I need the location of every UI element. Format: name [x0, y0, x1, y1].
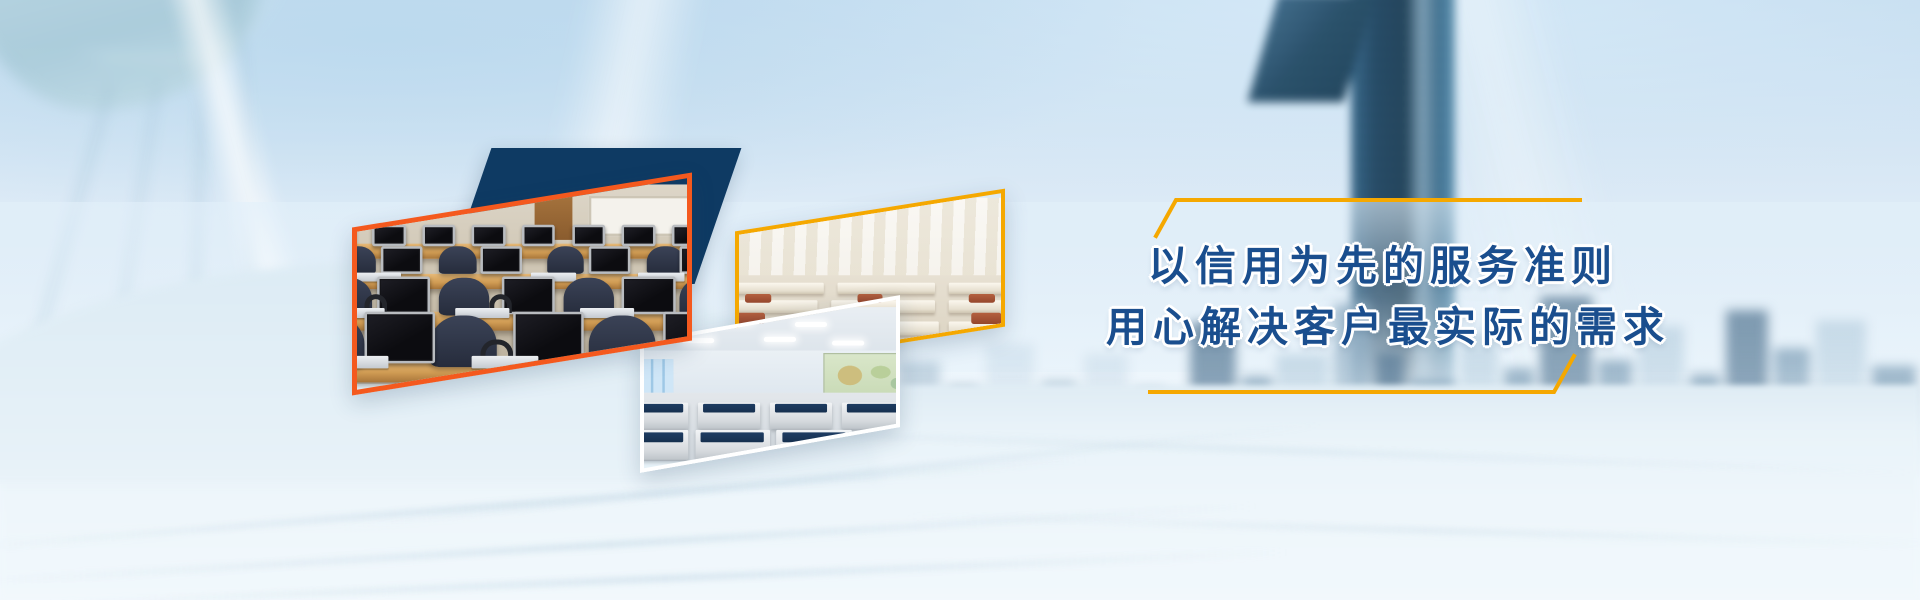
hero-banner: 以信用为先的服务准则 用心解决客户最实际的需求: [0, 0, 1920, 600]
headline-line-2: 用心解决客户最实际的需求: [1030, 297, 1670, 358]
headline-block: 以信用为先的服务准则 用心解决客户最实际的需求: [1030, 236, 1670, 357]
headline-line-1: 以信用为先的服务准则: [1030, 236, 1670, 297]
bracket-top-path: [1156, 200, 1580, 236]
bracket-bottom-path: [1150, 356, 1574, 392]
